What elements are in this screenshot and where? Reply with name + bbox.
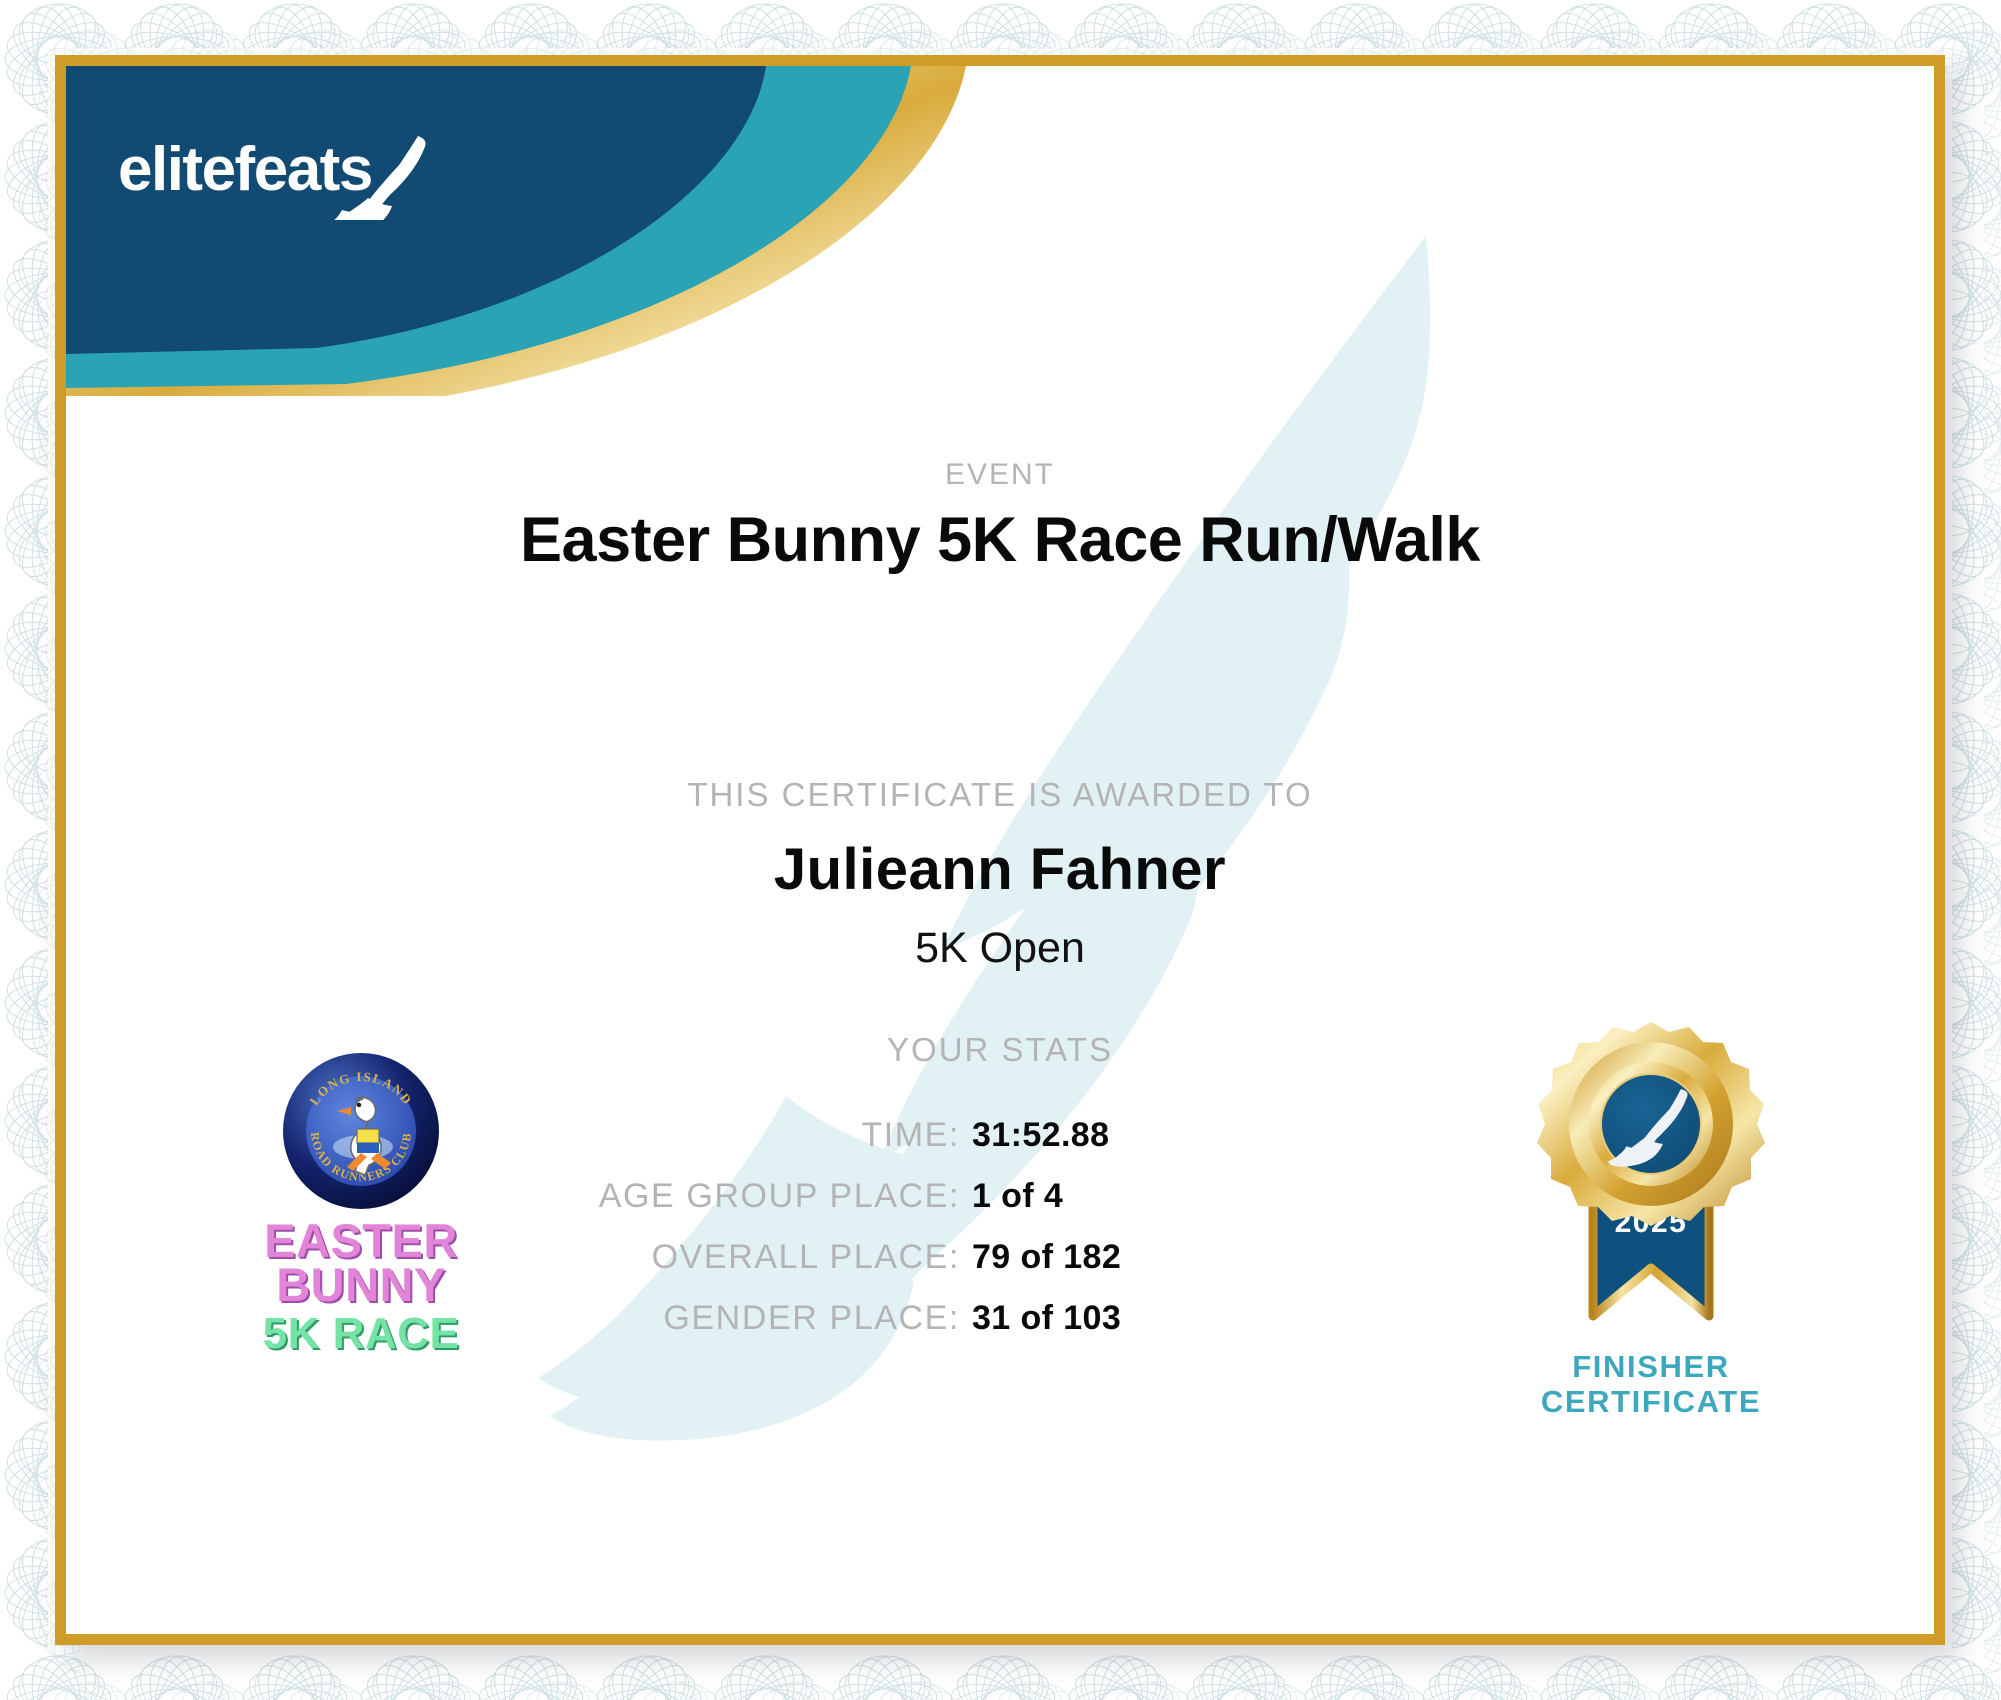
stat-value-overall-place: 79 of 182: [960, 1238, 1472, 1277]
stat-value-time: 31:52.88: [960, 1116, 1472, 1155]
stats-table: TIME: 31:52.88 AGE GROUP PLACE: 1 of 4 O…: [446, 1116, 1486, 1360]
stat-value-gender-place: 31 of 103: [960, 1299, 1472, 1338]
stat-key-age-group-place: AGE GROUP PLACE:: [460, 1177, 960, 1216]
table-row: TIME: 31:52.88: [446, 1116, 1486, 1155]
event-title: Easter Bunny 5K Race Run/Walk: [66, 504, 1934, 576]
finisher-medal: 2025 FINISHER: [1506, 1016, 1796, 1446]
medal-graphic: 2025: [1521, 1016, 1781, 1346]
certificate-card: elitefeats EVENT Easter Bunny 5K Race Ru…: [55, 55, 1945, 1645]
recipient-division: 5K Open: [66, 924, 1934, 973]
elitefeats-logo: elitefeats: [118, 128, 468, 220]
table-row: GENDER PLACE: 31 of 103: [446, 1299, 1486, 1338]
race-logo-line-2: BUNNY: [216, 1263, 506, 1307]
awarded-to-label: THIS CERTIFICATE IS AWARDED TO: [66, 776, 1934, 814]
finisher-caption-line-2: CERTIFICATE: [1506, 1385, 1796, 1420]
long-island-road-runners-club-badge: LONG ISLAND ROAD RUNNERS CLUB: [281, 1051, 441, 1211]
recipient-name: Julieann Fahner: [66, 836, 1934, 903]
stat-key-overall-place: OVERALL PLACE:: [460, 1238, 960, 1277]
race-logo-line-1: EASTER: [216, 1219, 506, 1263]
stat-key-time: TIME:: [460, 1116, 960, 1155]
race-logo-line-3: 5K RACE: [216, 1311, 506, 1357]
stat-key-gender-place: GENDER PLACE:: [460, 1299, 960, 1338]
event-label: EVENT: [66, 458, 1934, 492]
header-graphic: [66, 66, 1934, 396]
table-row: AGE GROUP PLACE: 1 of 4: [446, 1177, 1486, 1216]
medal-disc: [1537, 1022, 1765, 1226]
finisher-caption-line-1: FINISHER: [1506, 1350, 1796, 1385]
table-row: OVERALL PLACE: 79 of 182: [446, 1238, 1486, 1277]
elitefeats-wordmark: elitefeats: [118, 135, 372, 204]
certificate-body: elitefeats EVENT Easter Bunny 5K Race Ru…: [66, 66, 1934, 1634]
stat-value-age-group-place: 1 of 4: [960, 1177, 1472, 1216]
easter-bunny-race-logo: LONG ISLAND ROAD RUNNERS CLUB EASTER B: [216, 1051, 506, 1356]
